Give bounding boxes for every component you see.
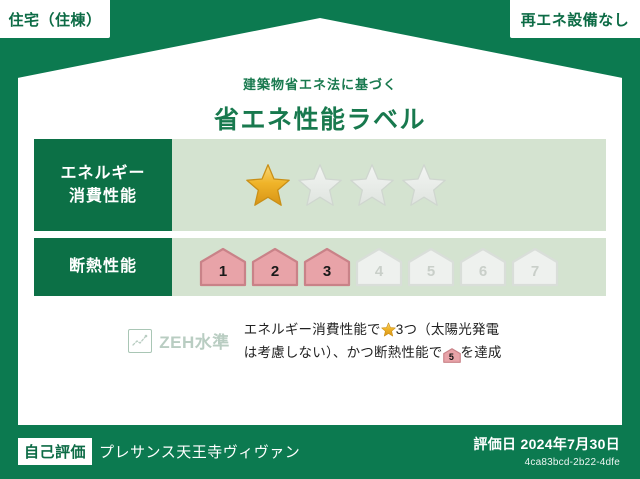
insulation-performance-row: 断熱性能 1 2	[34, 238, 606, 296]
insulation-level-badge: 6	[459, 247, 507, 287]
zeh-standard-block: ZEH水準 エネルギー消費性能で3つ（太陽光発電は考慮しない）、かつ断熱性能で5…	[18, 318, 622, 364]
insulation-level-number: 2	[271, 263, 279, 287]
insulation-level-number: 6	[479, 263, 487, 287]
insulation-performance-label: 断熱性能	[34, 238, 172, 296]
insulation-level-number: 5	[427, 263, 435, 287]
energy-performance-value	[172, 139, 606, 231]
star-rating	[172, 162, 447, 208]
renewable-energy-tag-text: 再エネ設備なし	[521, 9, 630, 30]
zeh-mark: ZEH水準	[128, 318, 230, 353]
star-icon-empty	[349, 162, 395, 208]
energy-performance-label: 住宅（住棟） 再エネ設備なし 建築物省エネ法に基づく 省エネ性能ラベル エネルギ…	[0, 0, 640, 479]
footer-right: 評価日 2024年7月30日 4ca83bcd-2b22-4dfe	[473, 434, 620, 468]
renewable-energy-tag: 再エネ設備なし	[510, 0, 640, 38]
insulation-label-text: 断熱性能	[69, 255, 137, 278]
insulation-level-number: 3	[323, 263, 331, 287]
insulation-level-badge: 4	[355, 247, 403, 287]
energy-performance-label: エネルギー 消費性能	[34, 139, 172, 231]
label-subtitle: 建築物省エネ法に基づく	[18, 74, 622, 93]
chart-trend-icon	[128, 329, 152, 353]
zeh-desc-stars: 3つ（太陽光発電	[396, 322, 500, 337]
building-name: プレサンス天王寺ヴィヴァン	[99, 441, 300, 462]
zeh-desc-part2: は考慮しない）、かつ断熱性能で	[244, 345, 443, 360]
energy-label-line2: 消費性能	[60, 185, 145, 208]
zeh-desc-part3: を達成	[461, 345, 502, 360]
star-icon-filled	[245, 162, 291, 208]
insulation-level-badge: 3	[303, 247, 351, 287]
energy-performance-row: エネルギー 消費性能	[34, 139, 606, 231]
label-footer: 自己評価 プレサンス天王寺ヴィヴァン 評価日 2024年7月30日 4ca83b…	[0, 425, 640, 479]
insulation-level-number: 4	[375, 263, 383, 287]
title-block: 建築物省エネ法に基づく 省エネ性能ラベル	[18, 74, 622, 136]
self-evaluation-badge: 自己評価	[18, 438, 92, 465]
zeh-desc-house-level: 5	[443, 348, 461, 367]
insulation-level-number: 1	[219, 263, 227, 287]
label-card: 建築物省エネ法に基づく 省エネ性能ラベル エネルギー 消費性能	[18, 18, 622, 425]
label-id: 4ca83bcd-2b22-4dfe	[473, 457, 620, 468]
star-icon-empty	[401, 162, 447, 208]
insulation-level-badge: 1	[199, 247, 247, 287]
star-icon-inline	[381, 322, 396, 337]
insulation-level-badge: 2	[251, 247, 299, 287]
zeh-mark-label: ZEH水準	[159, 328, 230, 353]
insulation-level-number: 7	[531, 263, 539, 287]
house-icon-inline: 5	[443, 348, 461, 363]
insulation-performance-value: 1 2 3	[172, 238, 606, 296]
zeh-desc-part1: エネルギー消費性能で	[244, 322, 381, 337]
building-type-tag: 住宅（住棟）	[0, 0, 110, 38]
page-title: 省エネ性能ラベル	[18, 100, 622, 136]
zeh-description: エネルギー消費性能で3つ（太陽光発電は考慮しない）、かつ断熱性能で5を達成	[244, 318, 512, 364]
insulation-level-badge: 7	[511, 247, 559, 287]
star-icon-empty	[297, 162, 343, 208]
footer-left: 自己評価 プレサンス天王寺ヴィヴァン	[18, 438, 300, 465]
building-type-tag-text: 住宅（住棟）	[8, 9, 101, 30]
insulation-level-badge: 5	[407, 247, 455, 287]
energy-label-line1: エネルギー	[60, 162, 145, 185]
evaluation-date: 評価日 2024年7月30日	[473, 434, 620, 454]
insulation-level-scale: 1 2 3	[172, 247, 559, 287]
